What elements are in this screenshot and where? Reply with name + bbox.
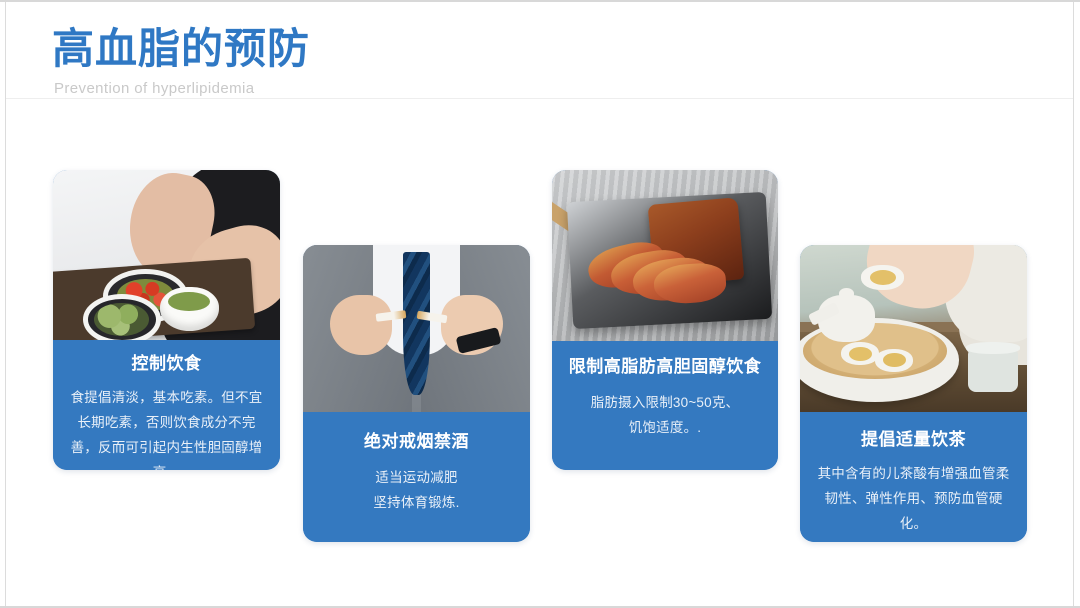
prevention-card-diet[interactable]: 控制饮食 食提倡清淡，基本吃素。但不宜长期吃素，否则饮食成分不完善，反而可引起内… xyxy=(53,170,280,470)
card-body-line-1: 适当运动减肥 xyxy=(303,466,530,491)
page-title: 高血脂的预防 xyxy=(52,26,310,72)
card-title: 控制饮食 xyxy=(53,354,280,374)
page-subtitle: Prevention of hyperlipidemia xyxy=(54,80,254,97)
card-body-text: 食提倡清淡，基本吃素。但不宜长期吃素，否则饮食成分不完善，反而可引起内生性胆固醇… xyxy=(53,386,280,470)
card-title: 限制高脂肪高胆固醇饮食 xyxy=(552,357,778,377)
slide-canvas: 高血脂的预防 Prevention of hyperlipidemia 控制饮食… xyxy=(0,0,1080,608)
card-body-line-1: 脂肪摄入限制30~50克、 xyxy=(552,391,778,416)
prevention-card-quit-smoking[interactable]: 绝对戒烟禁酒 适当运动减肥 坚持体育锻炼. xyxy=(303,245,530,542)
card-photo-tea-tray xyxy=(800,245,1027,412)
card-text-panel: 提倡适量饮茶 其中含有的儿茶酸有增强血管柔韧性、弹性作用、预防血管硬化。 xyxy=(800,412,1027,542)
slide-header: 高血脂的预防 Prevention of hyperlipidemia xyxy=(0,2,1080,99)
card-text-panel: 控制饮食 食提倡清淡，基本吃素。但不宜长期吃素，否则饮食成分不完善，反而可引起内… xyxy=(53,340,280,470)
card-body-line-2: 饥饱适度。. xyxy=(552,416,778,441)
card-photo-braised-pork xyxy=(552,170,778,341)
card-body-line-2: 坚持体育锻炼. xyxy=(303,491,530,516)
card-title: 提倡适量饮茶 xyxy=(800,430,1027,450)
card-title: 绝对戒烟禁酒 xyxy=(303,432,530,452)
prevention-card-limit-fat[interactable]: 限制高脂肪高胆固醇饮食 脂肪摄入限制30~50克、 饥饱适度。. xyxy=(552,170,778,470)
prevention-card-drink-tea[interactable]: 提倡适量饮茶 其中含有的儿茶酸有增强血管柔韧性、弹性作用、预防血管硬化。 xyxy=(800,245,1027,542)
card-photo-breaking-cigarette xyxy=(303,245,530,412)
header-divider xyxy=(6,98,1073,99)
card-photo-healthy-meal xyxy=(53,170,280,340)
card-text-panel: 绝对戒烟禁酒 适当运动减肥 坚持体育锻炼. xyxy=(303,412,530,542)
card-text-panel: 限制高脂肪高胆固醇饮食 脂肪摄入限制30~50克、 饥饱适度。. xyxy=(552,341,778,470)
card-body-text: 其中含有的儿茶酸有增强血管柔韧性、弹性作用、预防血管硬化。 xyxy=(800,462,1027,537)
